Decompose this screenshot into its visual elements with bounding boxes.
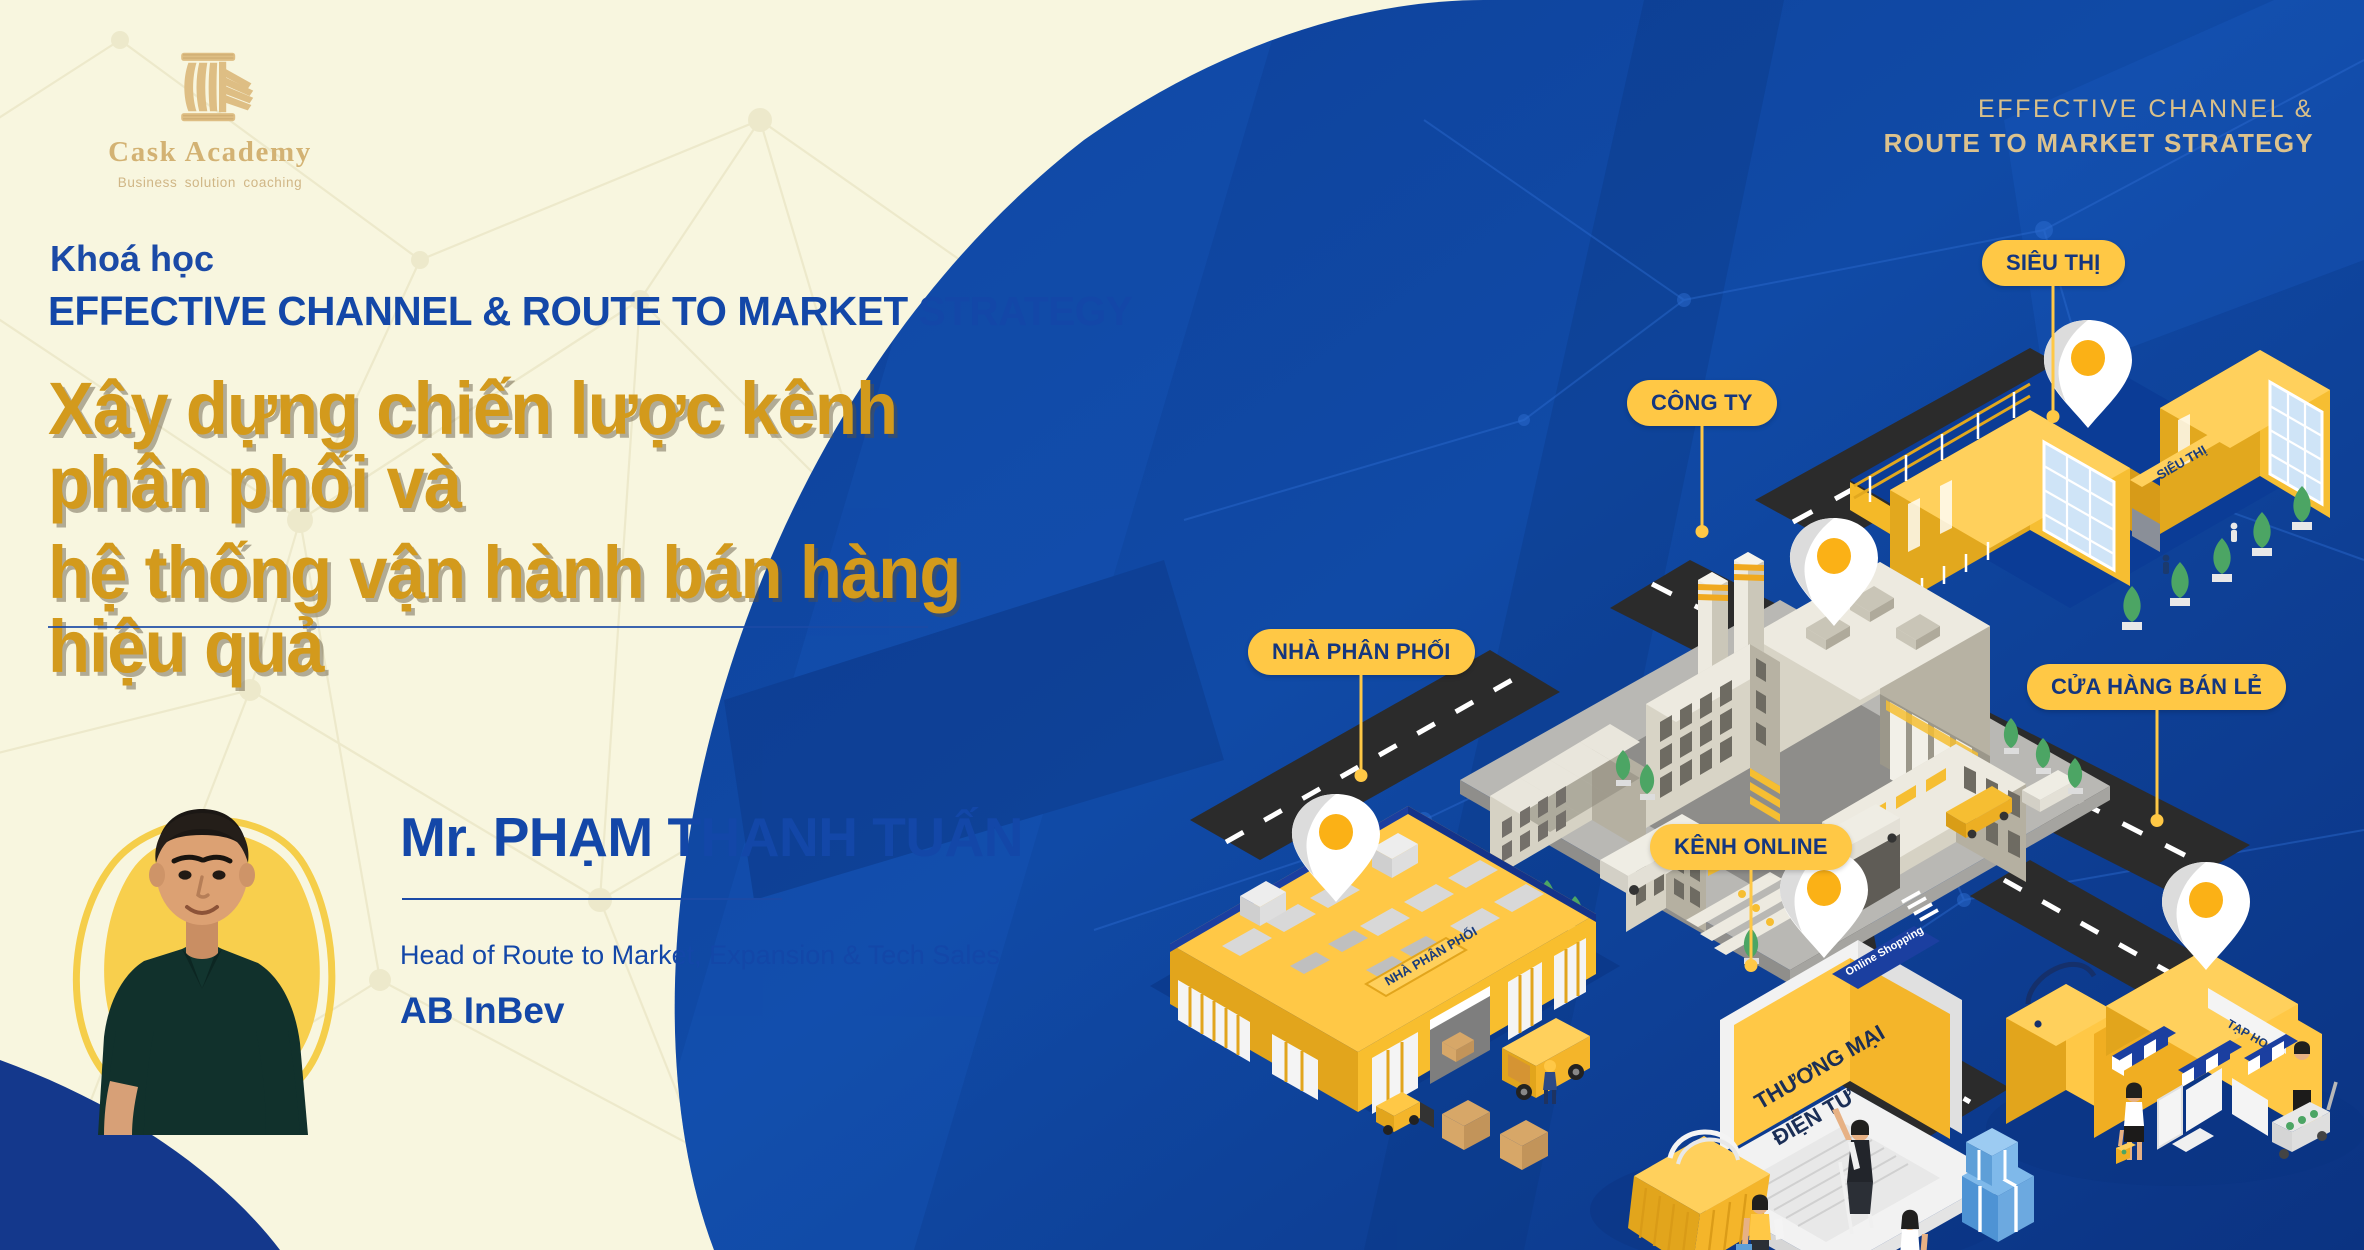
speaker-company: AB InBev — [400, 990, 564, 1032]
corner-title-line1: EFFECTIVE CHANNEL & — [1884, 95, 2314, 124]
course-title-vi: Xây dựng chiến lược kênh phân phối và hệ… — [48, 372, 1034, 684]
section-divider — [48, 626, 928, 628]
brand-name: Cask Academy — [45, 136, 375, 169]
pin-label-nha-phan-phoi[interactable]: NHÀ PHÂN PHỐI — [1248, 629, 1475, 675]
speaker-divider — [402, 898, 782, 900]
corner-title-line2: ROUTE TO MARKET STRATEGY — [1884, 128, 2314, 159]
pin-label-text: CÔNG TY — [1651, 390, 1753, 416]
pin-dot — [1355, 769, 1368, 782]
pin-label-text: CỬA HÀNG BÁN LẺ — [2051, 674, 2262, 700]
pin-stem — [1749, 870, 1752, 965]
course-headline-en: EFFECTIVE CHANNEL & ROUTE TO MARKET STRA… — [48, 288, 1132, 335]
pin-dot — [2150, 814, 2163, 827]
course-title-line2: hệ thống vận hành bán hàng hiệu quả — [48, 536, 1034, 684]
brand-tagline: Business solution coaching — [45, 175, 375, 190]
speaker-name: Mr. PHẠM THANH TUẤN — [400, 805, 1023, 869]
pin-label-cua-hang-ban-le[interactable]: CỬA HÀNG BÁN LẺ — [2027, 664, 2286, 710]
pin-dot — [2047, 410, 2060, 423]
poster-canvas: Cask Academy Business solution coaching … — [0, 0, 2364, 1250]
cask-barrel-book-icon — [45, 42, 375, 132]
node-distributor-warehouse: NHÀ PHÂN PHỐI — [1150, 794, 1620, 1170]
speaker-portrait-illustration — [82, 725, 332, 1135]
pin-label-text: SIÊU THỊ — [2006, 250, 2101, 276]
course-title-line1: Xây dựng chiến lược kênh phân phối và — [48, 367, 897, 524]
pin-stem — [2052, 286, 2055, 416]
speaker-role: Head of Route to Market, Expansion & Tec… — [400, 940, 1000, 971]
pin-stem — [1700, 426, 1703, 531]
pin-label-text: NHÀ PHÂN PHỐI — [1272, 639, 1451, 665]
pin-stem — [1360, 675, 1363, 775]
brand-logo: Cask Academy Business solution coaching — [45, 42, 375, 190]
pin-stem — [2155, 710, 2158, 820]
pin-label-cong-ty[interactable]: CÔNG TY — [1627, 380, 1777, 426]
course-kicker: Khoá học — [50, 238, 214, 280]
pin-label-text: KÊNH ONLINE — [1674, 834, 1828, 860]
corner-title: EFFECTIVE CHANNEL & ROUTE TO MARKET STRA… — [1884, 95, 2314, 159]
node-supermarket: SIÊU THỊ — [1850, 320, 2330, 630]
pin-dot — [1744, 959, 1757, 972]
pin-label-sieu-thi[interactable]: SIÊU THỊ — [1982, 240, 2125, 286]
pin-label-kenh-online[interactable]: KÊNH ONLINE — [1650, 824, 1852, 870]
speaker-photo — [60, 715, 350, 1135]
pin-dot — [1695, 525, 1708, 538]
